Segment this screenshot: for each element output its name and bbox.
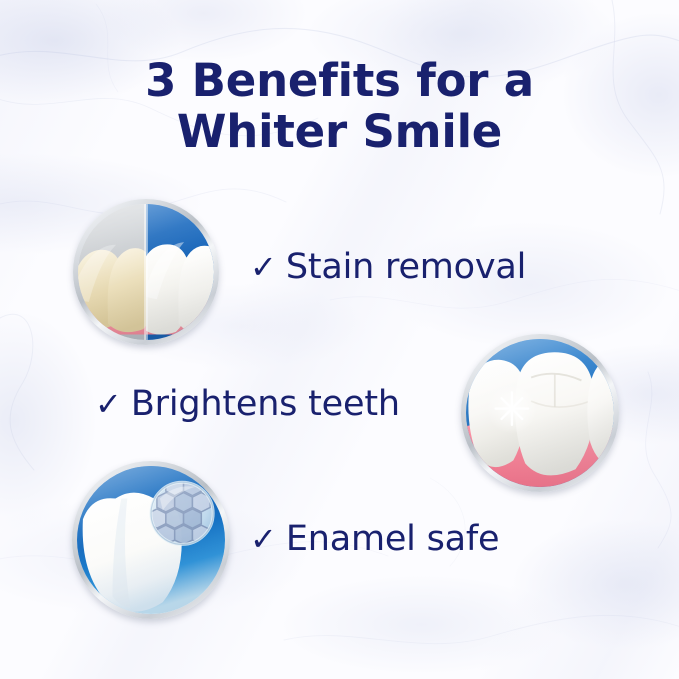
benefit-label-stain-removal: Stain removal <box>286 250 526 285</box>
checkmark-icon: ✓ <box>95 388 122 420</box>
page-title-line-1: 3 Benefits for a <box>0 56 679 107</box>
benefit-image-enamel-safe-inner <box>77 466 225 614</box>
benefit-image-brightens-teeth-inner <box>466 339 614 487</box>
checkmark-icon: ✓ <box>250 523 277 555</box>
page-title: 3 Benefits for a Whiter Smile <box>0 56 679 158</box>
infographic-canvas: 3 Benefits for a Whiter Smile <box>0 0 679 679</box>
before-after-teeth-icon <box>78 204 214 340</box>
benefit-label-brightens-teeth: Brightens teeth <box>131 387 400 422</box>
shining-teeth-icon <box>466 339 614 487</box>
benefit-image-brightens-teeth <box>461 334 619 492</box>
benefit-image-stain-removal-inner <box>78 204 214 340</box>
page-title-line-2: Whiter Smile <box>0 107 679 158</box>
benefit-image-enamel-safe <box>72 461 230 619</box>
benefit-image-stain-removal <box>73 199 219 345</box>
benefit-item-enamel-safe: ✓ Enamel safe <box>250 522 499 557</box>
benefit-item-brightens-teeth: ✓ Brightens teeth <box>95 387 400 422</box>
benefit-item-stain-removal: ✓ Stain removal <box>250 250 526 285</box>
benefit-label-enamel-safe: Enamel safe <box>286 522 500 557</box>
checkmark-icon: ✓ <box>250 251 277 283</box>
enamel-magnifier-icon <box>77 466 225 614</box>
